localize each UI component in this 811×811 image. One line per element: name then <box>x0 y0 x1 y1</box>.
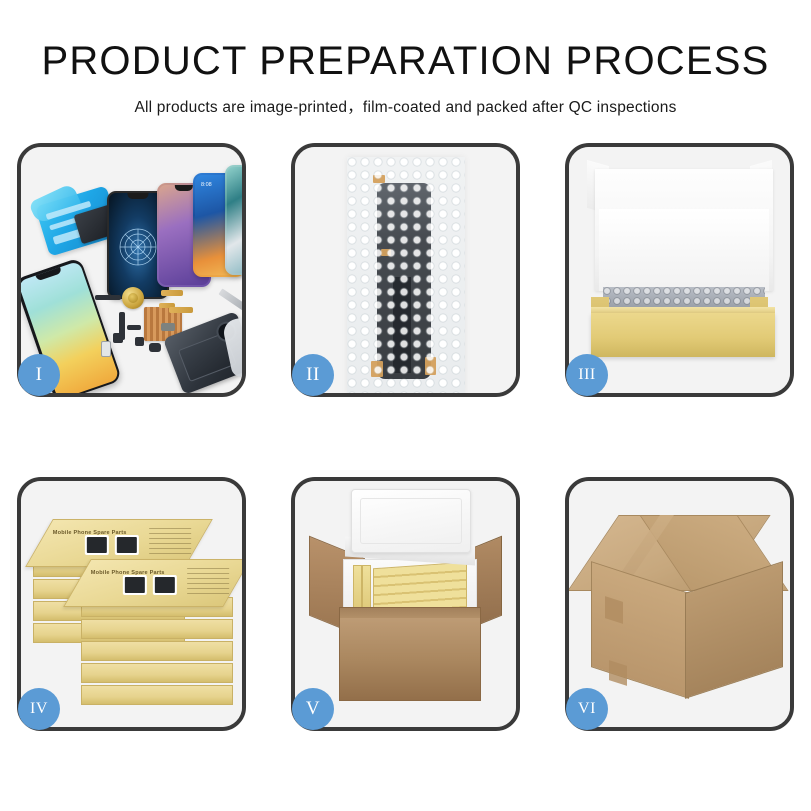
speaker-icon <box>149 343 161 352</box>
step-badge-2: II <box>292 354 334 396</box>
step-image-4: Mobile Phone Spare Parts Mobile Phone Sp… <box>21 481 242 727</box>
ic-chip-icon <box>113 333 123 343</box>
phone-teal-icon <box>225 165 242 275</box>
phone-clock-label: 8:08 <box>201 182 212 188</box>
flex-cable-icon <box>95 295 121 300</box>
flex-cable-icon <box>127 325 141 330</box>
tape-tab-icon <box>371 361 383 377</box>
wrapped-flex-icon <box>393 277 411 373</box>
step-badge-1: I <box>18 354 60 396</box>
step-image-2 <box>295 147 516 393</box>
step-panel-1: 8:08 <box>17 143 246 397</box>
product-preparation-infographic: PRODUCT PREPARATION PROCESS All products… <box>0 0 811 811</box>
foam-lid-icon <box>351 489 471 553</box>
tape-tab-icon <box>381 249 391 256</box>
step-badge-3: III <box>566 354 608 396</box>
carton-body-icon <box>339 607 481 701</box>
box-stack-icon: Mobile Phone Spare Parts Mobile Phone Sp… <box>29 505 239 715</box>
step-image-1: 8:08 <box>21 147 242 393</box>
step-image-3 <box>569 147 790 393</box>
page-subtitle: All products are image-printed，film-coat… <box>0 95 811 117</box>
step-image-6 <box>569 481 790 727</box>
gold-connector-icon <box>161 290 183 296</box>
steps-grid: 8:08 <box>17 143 794 731</box>
camera-module-icon <box>101 341 111 357</box>
step-badge-5: V <box>292 688 334 730</box>
step-panel-2: II <box>291 143 520 397</box>
tape-tab-icon <box>373 175 385 183</box>
foam-sheet-icon <box>599 209 769 291</box>
page-title: PRODUCT PREPARATION PROCESS <box>0 40 811 82</box>
step-badge-4: IV <box>18 688 60 730</box>
ic-chip-icon <box>135 337 144 346</box>
tape-tab-icon <box>425 357 436 375</box>
box-lid-printed-icon: Mobile Phone Spare Parts <box>63 559 242 607</box>
gold-connector-icon <box>169 307 193 313</box>
step-image-5 <box>295 481 516 727</box>
step-badge-6: VI <box>566 688 608 730</box>
step-panel-5: V <box>291 477 520 731</box>
step-panel-3: III <box>565 143 794 397</box>
taptic-engine-icon <box>122 287 144 309</box>
header: PRODUCT PREPARATION PROCESS All products… <box>0 0 811 117</box>
step-panel-6: VI <box>565 477 794 731</box>
shield-plate-icon <box>161 323 175 331</box>
bubble-wrap-icon <box>347 157 465 393</box>
cracked-glass-icon <box>116 225 160 269</box>
step-panel-4: Mobile Phone Spare Parts Mobile Phone Sp… <box>17 477 246 731</box>
box-front-icon <box>591 313 775 357</box>
